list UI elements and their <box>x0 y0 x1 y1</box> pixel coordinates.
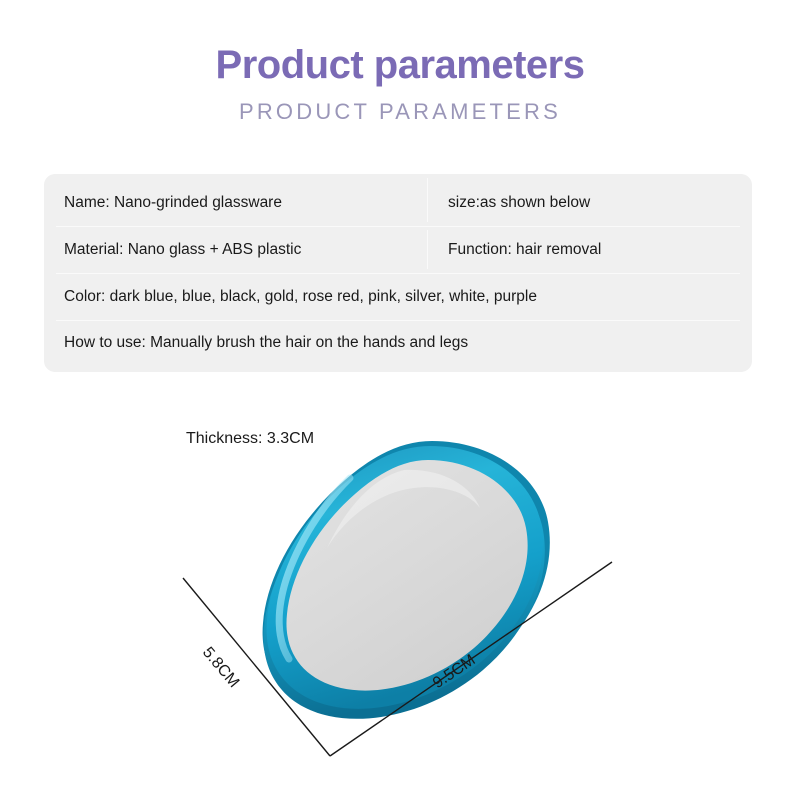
product-image <box>0 0 800 800</box>
